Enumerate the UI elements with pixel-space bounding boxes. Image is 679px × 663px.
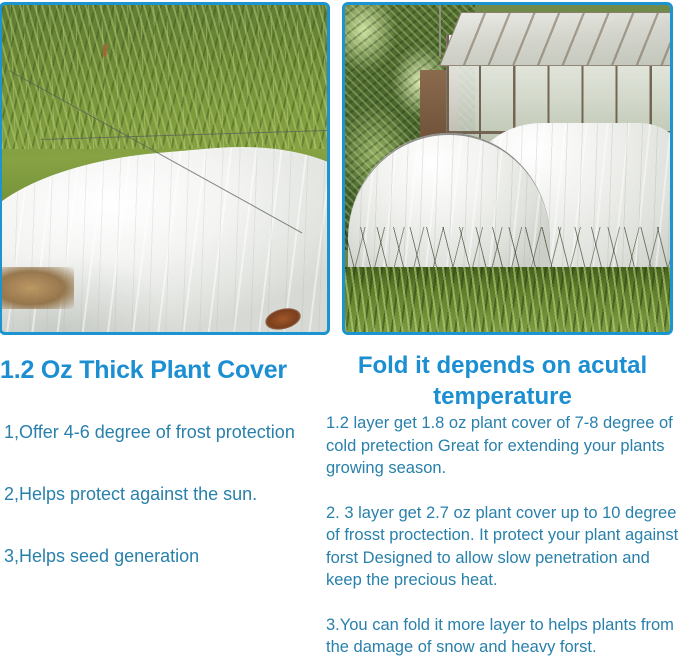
right-title-line-2: temperature bbox=[433, 383, 572, 410]
greenhouse-roof bbox=[439, 12, 670, 66]
left-text-column: 1.2 Oz Thick Plant Cover 1,Offer 4-6 deg… bbox=[0, 355, 325, 567]
chimney-pipe bbox=[439, 5, 441, 57]
plant-cover-over-garden-bed-photo bbox=[2, 5, 327, 332]
right-text-column: Fold it depends on acutal temperature 1.… bbox=[326, 350, 679, 659]
feature-list: 1,Offer 4-6 degree of frost protection 2… bbox=[0, 421, 325, 567]
foreground-grass bbox=[345, 267, 670, 332]
list-item: 2,Helps protect against the sun. bbox=[0, 483, 325, 505]
description-paragraph-list: 1.2 layer get 1.8 oz plant cover of 7-8 … bbox=[326, 412, 679, 659]
mulch-patch bbox=[2, 267, 74, 310]
left-column-title: 1.2 Oz Thick Plant Cover bbox=[0, 355, 325, 385]
right-column-title: Fold it depends on acutal temperature bbox=[326, 350, 679, 412]
list-item: 1,Offer 4-6 degree of frost protection bbox=[0, 421, 325, 443]
product-infographic: 1.2 Oz Thick Plant Cover 1,Offer 4-6 deg… bbox=[0, 0, 679, 663]
plant-cover-hoop-tunnel-photo bbox=[345, 5, 670, 332]
right-title-line-1: Fold it depends on acutal bbox=[358, 352, 647, 379]
description-paragraph: 3.You can fold it more layer to helps pl… bbox=[326, 614, 679, 659]
photo-panel-row bbox=[0, 0, 679, 340]
description-paragraph: 2. 3 layer get 2.7 oz plant cover up to … bbox=[326, 502, 679, 592]
left-photo-panel bbox=[0, 2, 330, 335]
list-item: 3,Helps seed generation bbox=[0, 545, 325, 567]
right-photo-panel bbox=[342, 2, 673, 335]
roof-bolt-line bbox=[441, 13, 670, 65]
grass-texture-upper bbox=[2, 5, 327, 149]
description-paragraph: 1.2 layer get 1.8 oz plant cover of 7-8 … bbox=[326, 412, 679, 480]
